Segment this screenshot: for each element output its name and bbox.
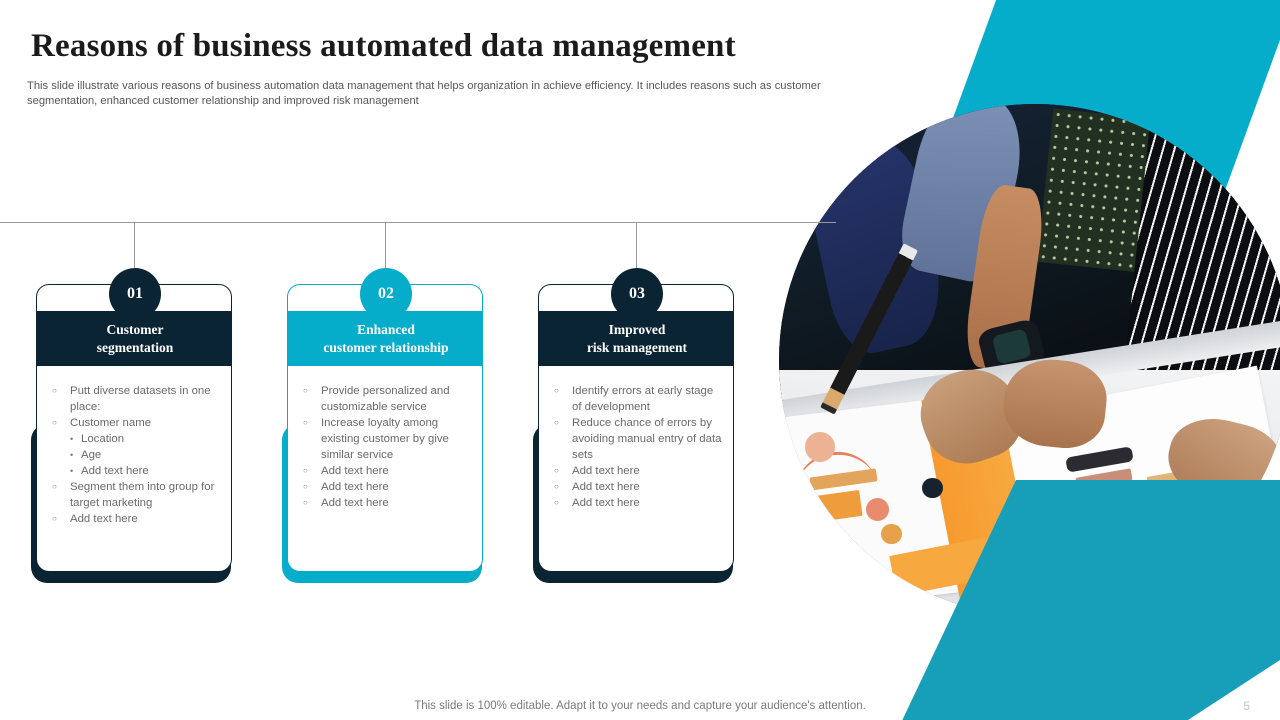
card-bullet-list: Identify errors at early stage of develo… <box>553 383 725 511</box>
card-bullet: Increase loyalty among existing customer… <box>302 415 474 463</box>
card-sub-bullet-list: LocationAgeAdd text here <box>70 431 223 479</box>
card-bullet: Provide personalized and customizable se… <box>302 383 474 415</box>
card-bullet-text: Add text here <box>321 463 474 479</box>
reason-card-2[interactable]: Enhancedcustomer relationshipProvide per… <box>287 284 485 584</box>
card-title-line-2: segmentation <box>97 339 174 357</box>
card-bullet: Putt diverse datasets in one place: <box>51 383 223 415</box>
card-bullet-list: Provide personalized and customizable se… <box>302 383 474 511</box>
card-bullet: Add text here <box>302 479 474 495</box>
card-bullet-text: Identify errors at early stage of develo… <box>572 383 725 415</box>
card-bullet-text: Reduce chance of errors by avoiding manu… <box>572 415 725 463</box>
card-body: Provide personalized and customizable se… <box>288 373 483 511</box>
card-bullet-text: Add text here <box>572 479 725 495</box>
card-bullet: Customer nameLocationAgeAdd text here <box>51 415 223 479</box>
card-bullet: Add text here <box>302 463 474 479</box>
card-number-badge: 03 <box>611 268 663 320</box>
card-bullet: Add text here <box>302 495 474 511</box>
card-bullet: Add text here <box>51 511 223 527</box>
card-number-badge: 01 <box>109 268 161 320</box>
card-face[interactable]: Improvedrisk managementIdentify errors a… <box>538 284 734 572</box>
card-number-badge: 02 <box>360 268 412 320</box>
card-bullet: Add text here <box>553 463 725 479</box>
card-bullet: Identify errors at early stage of develo… <box>553 383 725 415</box>
card-bullet-text: Customer name <box>70 415 223 431</box>
page-subtitle: This slide illustrate various reasons of… <box>27 79 839 108</box>
card-face[interactable]: Enhancedcustomer relationshipProvide per… <box>287 284 483 572</box>
card-bullet: Segment them into group for target marke… <box>51 479 223 511</box>
card-body: Putt diverse datasets in one place:Custo… <box>37 373 232 527</box>
card-bullet: Add text here <box>553 495 725 511</box>
card-bullet-text: Segment them into group for target marke… <box>70 479 223 511</box>
card-bullet-text: Add text here <box>572 495 725 511</box>
slide-root: 3 Reasons of business automated data man… <box>0 0 1280 720</box>
page-number: 5 <box>1243 699 1250 713</box>
card-bullet-text: Add text here <box>321 495 474 511</box>
card-bullet-text: Add text here <box>70 511 223 527</box>
reason-card-3[interactable]: Improvedrisk managementIdentify errors a… <box>538 284 736 584</box>
card-title-line-2: customer relationship <box>323 339 448 357</box>
card-title-line-1: Improved <box>609 321 666 339</box>
card-bullet-text: Provide personalized and customizable se… <box>321 383 474 415</box>
reason-card-1[interactable]: CustomersegmentationPutt diverse dataset… <box>36 284 234 584</box>
card-bullet-text: Add text here <box>572 463 725 479</box>
card-bullet: Reduce chance of errors by avoiding manu… <box>553 415 725 463</box>
connector-rail <box>0 222 836 223</box>
page-title: Reasons of business automated data manag… <box>31 28 831 65</box>
card-sub-bullet: Location <box>70 431 223 447</box>
card-sub-bullet: Age <box>70 447 223 463</box>
card-title-line-2: risk management <box>587 339 687 357</box>
card-title-line-1: Customer <box>107 321 164 339</box>
card-bullet-text: Add text here <box>321 479 474 495</box>
card-sub-bullet: Add text here <box>70 463 223 479</box>
card-body: Identify errors at early stage of develo… <box>539 373 734 511</box>
card-bullet-text: Increase loyalty among existing customer… <box>321 415 474 463</box>
card-bullet-list: Putt diverse datasets in one place:Custo… <box>51 383 223 527</box>
card-face[interactable]: CustomersegmentationPutt diverse dataset… <box>36 284 232 572</box>
card-title-line-1: Enhanced <box>357 321 415 339</box>
card-bullet-text: Putt diverse datasets in one place: <box>70 383 223 415</box>
card-bullet: Add text here <box>553 479 725 495</box>
footer-note: This slide is 100% editable. Adapt it to… <box>0 700 1280 712</box>
